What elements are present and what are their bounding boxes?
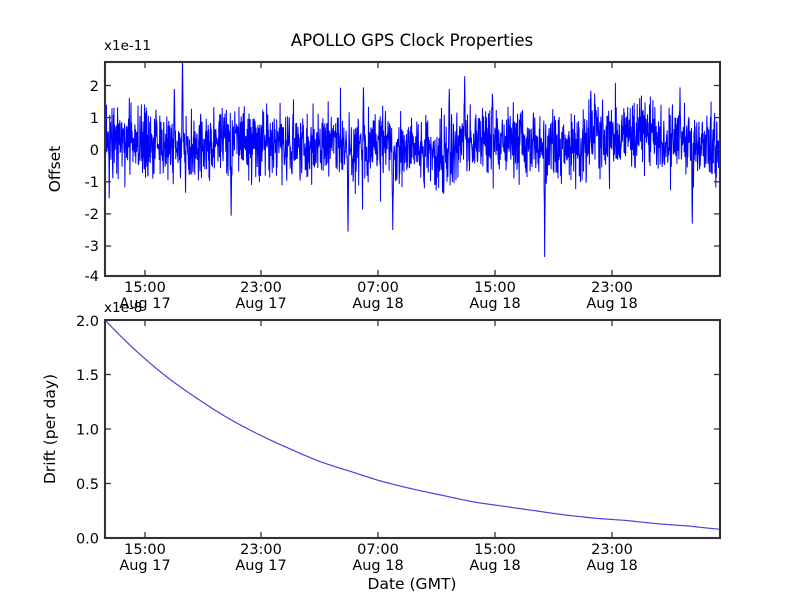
offset-ytick-1: 1: [90, 111, 99, 127]
offset-xtick-time-3: 15:00: [474, 280, 516, 296]
offset-ytick-0: 0: [90, 143, 99, 159]
offset-xtick-date-2: Aug 18: [352, 296, 403, 312]
offset-y-axis-label: Offset: [46, 146, 64, 193]
drift-xtick-date-3: Aug 18: [469, 558, 520, 574]
offset-y-exponent-label: x1e-11: [104, 38, 151, 54]
drift-xtick-date-1: Aug 17: [235, 558, 286, 574]
offset-xtick-time-0: 15:00: [124, 280, 166, 296]
drift-x-axis-label: Date (GMT): [368, 575, 457, 593]
drift-ytick-1p0: 1.0: [76, 423, 99, 439]
drift-xtick-date-4: Aug 18: [586, 558, 637, 574]
offset-ytick-2: 2: [90, 79, 99, 95]
offset-ytick-neg1: -1: [85, 175, 99, 191]
drift-xtick-time-3: 15:00: [474, 542, 516, 558]
offset-xtick-date-1: Aug 17: [235, 296, 286, 312]
offset-xtick-date-3: Aug 18: [469, 296, 520, 312]
figure-canvas: APOLLO GPS Clock Properties x1e-11: [0, 0, 800, 600]
drift-ytick-0p5: 0.5: [76, 477, 99, 493]
drift-xtick-time-0: 15:00: [124, 542, 166, 558]
drift-ytick-1p5: 1.5: [76, 368, 99, 384]
offset-ytick-neg3: -3: [85, 239, 99, 255]
offset-xtick-time-4: 23:00: [591, 280, 633, 296]
drift-xtick-date-0: Aug 17: [119, 558, 170, 574]
drift-xtick-time-2: 07:00: [357, 542, 399, 558]
matplotlib-figure: APOLLO GPS Clock Properties x1e-11: [0, 0, 800, 600]
drift-ytick-2p0: 2.0: [76, 314, 99, 330]
offset-ytick-neg2: -2: [85, 207, 99, 223]
drift-xtick-time-4: 23:00: [591, 542, 633, 558]
offset-xtick-date-4: Aug 18: [586, 296, 637, 312]
drift-xtick-date-2: Aug 18: [352, 558, 403, 574]
offset-ytick-neg4: -4: [85, 269, 99, 285]
drift-ytick-0p0: 0.0: [76, 532, 99, 548]
page-title: APOLLO GPS Clock Properties: [291, 31, 533, 50]
drift-xtick-time-1: 23:00: [240, 542, 282, 558]
drift-y-exponent-label: x1e-8: [104, 300, 142, 316]
offset-xtick-time-1: 23:00: [240, 280, 282, 296]
drift-y-axis-label: Drift (per day): [41, 374, 59, 484]
offset-xtick-time-2: 07:00: [357, 280, 399, 296]
